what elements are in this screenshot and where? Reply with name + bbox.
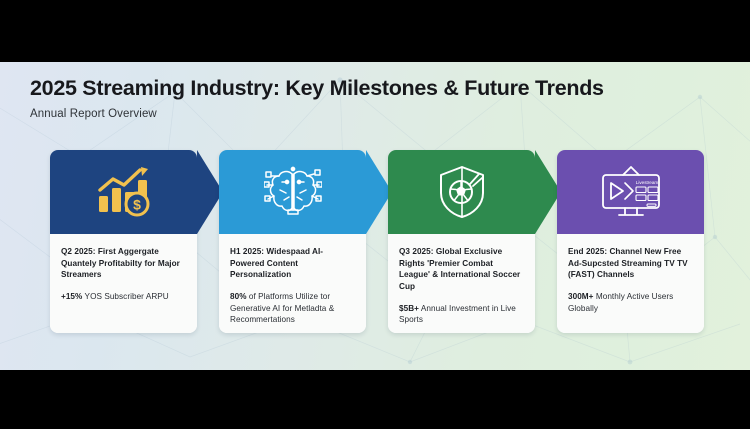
- card-2-title: H1 2025: Widespaad AI-Powered Content Pe…: [230, 246, 355, 281]
- milestone-card-4[interactable]: Livestream End 2025: Channel New Free Ad…: [557, 150, 704, 333]
- card-4-body: End 2025: Channel New Free Ad-Supcsted S…: [557, 234, 704, 333]
- page-subtitle: Annual Report Overview: [30, 108, 720, 120]
- card-2-stat: 80% of Platforms Utilize tor Generative …: [230, 291, 355, 326]
- page-title: 2025 Streaming Industry: Key Milestones …: [30, 76, 720, 101]
- card-3-title: Q3 2025: Global Exclusive Rights 'Premie…: [399, 246, 524, 293]
- shield-soccer-ball-icon: [388, 150, 535, 234]
- milestone-cards-row: $ Q2 2025: First Aggergate Quantely Prof…: [0, 150, 750, 350]
- tv-screen-title: Livestream: [635, 180, 658, 185]
- card-2-body: H1 2025: Widespaad AI-Powered Content Pe…: [219, 234, 366, 333]
- slide-canvas: 2025 Streaming Industry: Key Milestones …: [0, 62, 750, 370]
- card-2-stat-value: 80%: [230, 292, 247, 301]
- card-3-body: Q3 2025: Global Exclusive Rights 'Premie…: [388, 234, 535, 333]
- card-1-stat-value: +15%: [61, 292, 82, 301]
- card-1-body: Q2 2025: First Aggergate Quantely Profit…: [50, 234, 197, 333]
- header: 2025 Streaming Industry: Key Milestones …: [30, 76, 720, 120]
- slide-stage: 2025 Streaming Industry: Key Milestones …: [0, 0, 750, 429]
- bar-chart-growth-dollar-icon: $: [50, 150, 197, 234]
- card-4-stat-value: 300M+: [568, 292, 594, 301]
- card-3-header: [388, 150, 535, 234]
- card-2-stat-label: of Platforms Utilize tor Generative AI f…: [230, 292, 334, 324]
- card-2-header: [219, 150, 366, 234]
- card-1-stat-label: YOS Subscriber ARPU: [82, 292, 168, 301]
- card-3-stat-value: $5B+: [399, 304, 419, 313]
- card-3-stat: $5B+ Annual Investment in Live Sports: [399, 303, 524, 326]
- letterbox-top: [0, 0, 750, 62]
- card-4-stat: 300M+ Monthly Active Users Globally: [568, 291, 693, 314]
- card-1-title: Q2 2025: First Aggergate Quantely Profit…: [61, 246, 186, 281]
- milestone-card-3[interactable]: Q3 2025: Global Exclusive Rights 'Premie…: [388, 150, 535, 333]
- card-1-stat: +15% YOS Subscriber ARPU: [61, 291, 186, 303]
- card-1-header: $: [50, 150, 197, 234]
- card-4-header: Livestream: [557, 150, 704, 234]
- ai-brain-circuit-icon: [219, 150, 366, 234]
- card-4-title: End 2025: Channel New Free Ad-Supcsted S…: [568, 246, 693, 281]
- milestone-card-2[interactable]: H1 2025: Widespaad AI-Powered Content Pe…: [219, 150, 366, 333]
- letterbox-bottom: [0, 370, 750, 429]
- milestone-card-1[interactable]: $ Q2 2025: First Aggergate Quantely Prof…: [50, 150, 197, 333]
- tv-streaming-play-icon: Livestream: [557, 150, 704, 234]
- svg-text:$: $: [133, 197, 141, 213]
